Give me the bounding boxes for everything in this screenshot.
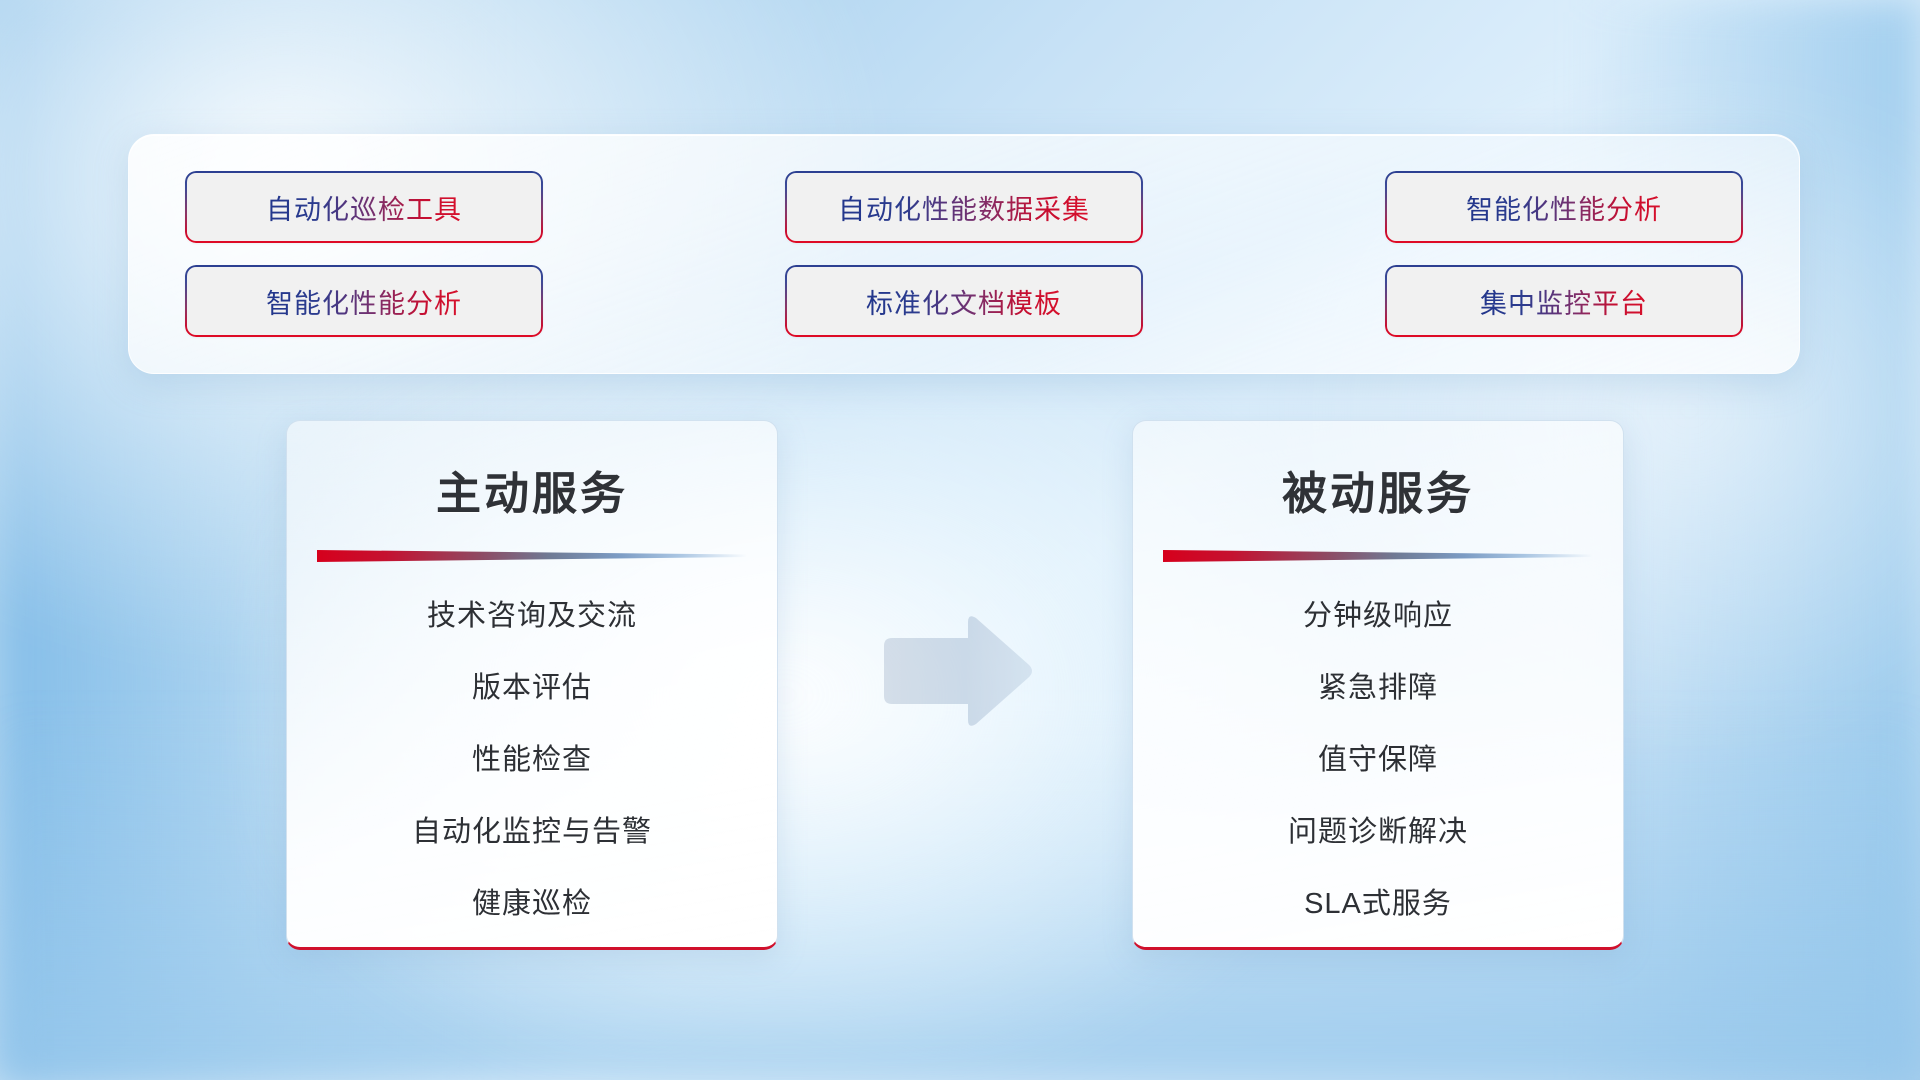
- title-divider-taper: [317, 550, 747, 562]
- service-list-item: 问题诊断解决: [1288, 808, 1468, 850]
- capability-row-2: 智能化性能分析 标准化文档模板 集中监控平台: [185, 265, 1743, 337]
- service-list-item: SLA式服务: [1304, 880, 1452, 922]
- right-arrow-icon: [876, 612, 1036, 730]
- capability-chip-label: 智能化性能分析: [1466, 188, 1662, 227]
- capability-chip-label: 集中监控平台: [1480, 282, 1648, 321]
- service-card-title: 主动服务: [287, 457, 777, 522]
- capability-chip-label: 自动化巡检工具: [266, 188, 462, 227]
- capability-chip-standardized-document-template[interactable]: 标准化文档模板: [785, 265, 1143, 337]
- service-card-title: 被动服务: [1133, 457, 1623, 522]
- title-divider: [1163, 550, 1593, 562]
- capability-chip-intelligent-performance-analysis[interactable]: 智能化性能分析: [1385, 171, 1743, 243]
- capability-chip-label: 自动化性能数据采集: [838, 188, 1090, 227]
- service-card-active: 主动服务 技术咨询及交流 版本评估 性能检查 自动化监控与告警 健康巡检: [286, 420, 778, 950]
- capability-chip-label: 智能化性能分析: [266, 282, 462, 321]
- service-list-item: 性能检查: [472, 736, 592, 778]
- capability-chip-automated-performance-collection[interactable]: 自动化性能数据采集: [785, 171, 1143, 243]
- capability-chip-intelligent-performance-analysis-2[interactable]: 智能化性能分析: [185, 265, 543, 337]
- capability-chip-automated-inspection-tool[interactable]: 自动化巡检工具: [185, 171, 543, 243]
- service-item-list: 分钟级响应 紧急排障 值守保障 问题诊断解决 SLA式服务: [1133, 592, 1623, 922]
- service-list-item: 健康巡检: [472, 880, 592, 922]
- service-list-item: 版本评估: [472, 664, 592, 706]
- service-card-passive: 被动服务 分钟级响应 紧急排障 值守保障 问题诊断解决 SLA式服务: [1132, 420, 1624, 950]
- service-list-item: 分钟级响应: [1303, 592, 1453, 634]
- capability-chip-centralized-monitoring-platform[interactable]: 集中监控平台: [1385, 265, 1743, 337]
- diagram-stage: 自动化巡检工具 自动化性能数据采集 智能化性能分析 智能化性能分析 标准化文档模…: [0, 0, 1920, 1080]
- title-divider-taper: [1163, 550, 1593, 562]
- capability-chip-label: 标准化文档模板: [866, 282, 1062, 321]
- service-list-item: 自动化监控与告警: [412, 808, 652, 850]
- service-list-item: 技术咨询及交流: [427, 592, 637, 634]
- capability-panel: 自动化巡检工具 自动化性能数据采集 智能化性能分析 智能化性能分析 标准化文档模…: [128, 134, 1800, 374]
- title-divider: [317, 550, 747, 562]
- service-item-list: 技术咨询及交流 版本评估 性能检查 自动化监控与告警 健康巡检: [287, 592, 777, 922]
- service-list-item: 值守保障: [1318, 736, 1438, 778]
- capability-row-1: 自动化巡检工具 自动化性能数据采集 智能化性能分析: [185, 171, 1743, 243]
- service-list-item: 紧急排障: [1318, 664, 1438, 706]
